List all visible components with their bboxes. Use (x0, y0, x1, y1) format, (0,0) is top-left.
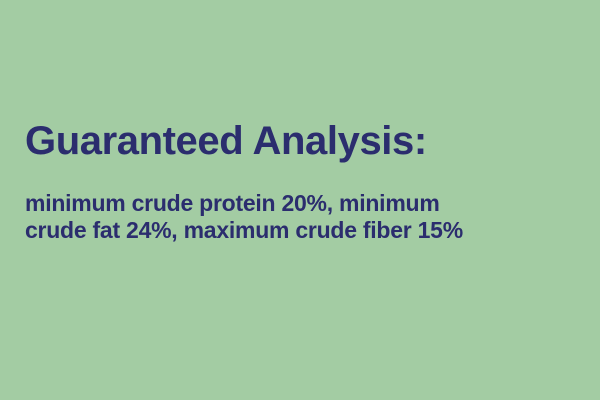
page-title: Guaranteed Analysis: (25, 118, 582, 164)
analysis-line-1: minimum crude protein 20%, minimum (25, 190, 582, 217)
analysis-line-2: crude fat 24%, maximum crude fiber 15% (25, 217, 582, 244)
guaranteed-analysis-banner: Guaranteed Analysis: minimum crude prote… (0, 0, 600, 400)
analysis-details: minimum crude protein 20%, minimum crude… (25, 164, 582, 244)
